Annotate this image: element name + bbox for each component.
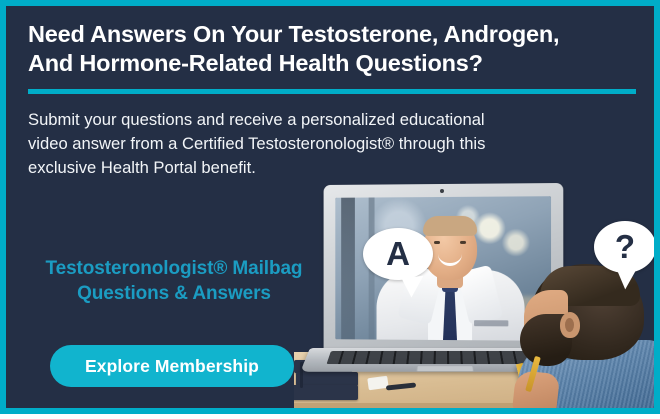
doctor-eye-right	[460, 241, 466, 244]
patient-hand	[512, 370, 560, 408]
headline-line-1: Need Answers On Your Testosterone, Andro…	[28, 20, 638, 49]
office-pillar-left	[341, 198, 355, 340]
promo-banner: A ? Need Answers On Your Testosterone, A…	[0, 0, 660, 414]
notebook-stack-bottom	[294, 385, 358, 400]
description-text: Submit your questions and receive a pers…	[28, 108, 634, 180]
answer-bubble-label: A	[386, 235, 410, 273]
question-bubble-label: ?	[615, 228, 635, 266]
answer-speech-bubble: A	[363, 228, 433, 280]
doctor-eye-left	[434, 241, 440, 244]
webcam-icon	[440, 189, 444, 193]
patient-figure	[518, 262, 654, 408]
promo-title-line-2: Questions & Answers	[18, 281, 330, 306]
explore-membership-button[interactable]: Explore Membership	[50, 345, 294, 387]
promo-title-line-1: Testosteronologist® Mailbag	[18, 256, 330, 281]
headline-line-2: And Hormone-Related Health Questions?	[28, 49, 638, 78]
doctor-hair	[423, 216, 477, 236]
banner-content: A ? Need Answers On Your Testosterone, A…	[6, 6, 654, 408]
patient-ear-inner	[565, 318, 574, 332]
doctor-name-badge	[474, 320, 508, 326]
subcopy-line-1: Submit your questions and receive a pers…	[28, 108, 634, 132]
subcopy-line-3: exclusive Health Portal benefit.	[28, 156, 634, 180]
laptop-trackpad	[416, 366, 474, 372]
promo-title: Testosteronologist® Mailbag Questions & …	[18, 256, 330, 306]
notebook-stack-middle	[296, 372, 358, 386]
divider	[28, 89, 636, 94]
page-title: Need Answers On Your Testosterone, Andro…	[28, 20, 638, 77]
subcopy-line-2: video answer from a Certified Testostero…	[28, 132, 634, 156]
consultation-photo	[294, 156, 654, 408]
question-speech-bubble: ?	[594, 221, 654, 273]
